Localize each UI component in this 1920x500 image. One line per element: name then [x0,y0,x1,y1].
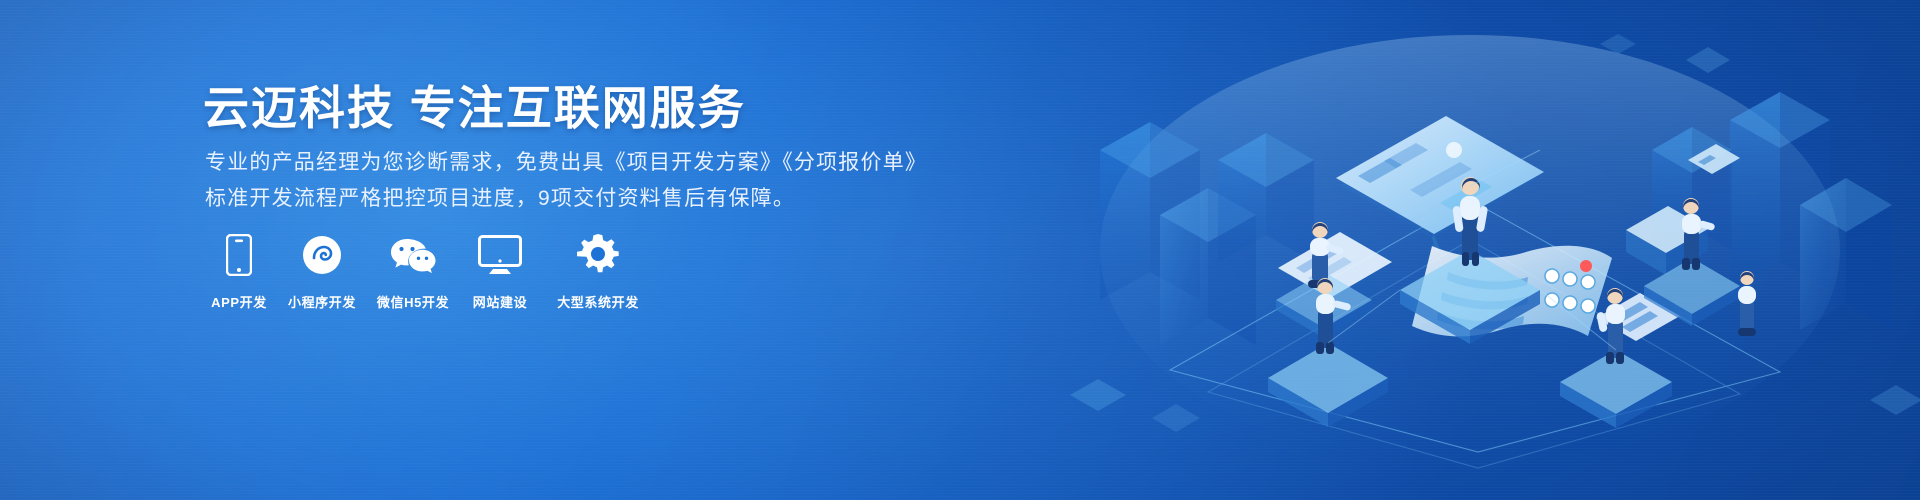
service-label: 网站建设 [473,292,527,311]
subtitle-line-1: 专业的产品经理为您诊断需求，免费出具《项目开发方案》《分项报价单》 [205,146,927,176]
page-title: 云迈科技 专注互联网服务 [203,72,746,138]
gear-icon [577,232,619,278]
hero-banner: 云迈科技 专注互联网服务 专业的产品经理为您诊断需求，免费出具《项目开发方案》《… [0,0,1920,500]
mini-program-icon [302,232,342,278]
service-item-app[interactable]: APP开发 [203,232,275,311]
service-item-miniprogram[interactable]: 小程序开发 [279,232,365,311]
hero-content: 云迈科技 专注互联网服务 专业的产品经理为您诊断需求，免费出具《项目开发方案》《… [203,0,1103,500]
mobile-phone-icon [226,232,252,278]
service-label: 小程序开发 [288,292,356,311]
wechat-icon [390,232,436,278]
service-item-website[interactable]: 网站建设 [461,232,539,311]
service-label: 大型系统开发 [557,292,639,311]
service-list: APP开发 小程序开发 [203,232,657,311]
monitor-icon [478,232,522,278]
service-label: APP开发 [211,292,267,311]
hero-illustration [1040,0,1920,500]
service-item-wechat[interactable]: 微信H5开发 [369,232,457,311]
service-label: 微信H5开发 [377,292,449,311]
subtitle-line-2: 标准开发流程严格把控项目进度，9项交付资料售后有保障。 [205,182,795,212]
service-item-system[interactable]: 大型系统开发 [543,232,653,311]
